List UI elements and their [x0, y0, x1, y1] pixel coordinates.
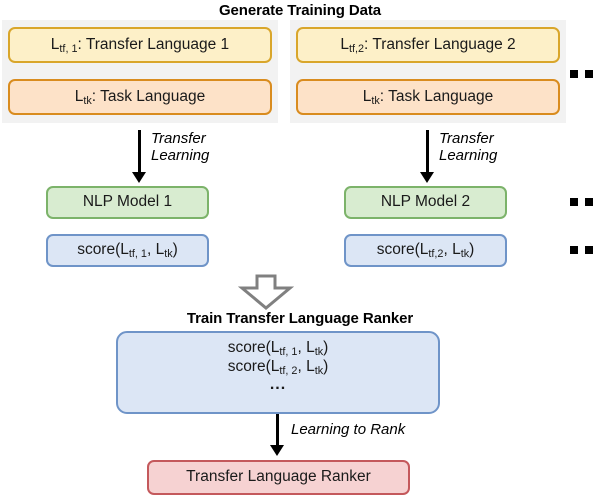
transfer-learning-label-2: Transfer Learning — [439, 131, 497, 165]
task-language-label-2: Ltk: Task Language — [363, 89, 494, 105]
task-language-label-1: Ltk: Task Language — [75, 89, 206, 105]
learning-to-rank-label: Learning to Rank — [291, 422, 405, 439]
transfer-language-box-1: Ltf, 1: Transfer Language 1 — [8, 27, 272, 63]
task-language-box-1: Ltk: Task Language — [8, 79, 272, 115]
score-box-2: score(Ltf,2, Ltk) — [344, 234, 507, 267]
diagram-canvas: Generate Training Data Ltf, 1: Transfer … — [0, 0, 600, 498]
ranker-score-line-1: score(Ltf, 1, Ltk) — [118, 339, 438, 358]
nlp-model-label-2: NLP Model 2 — [381, 194, 470, 210]
score-label-1: score(Ltf, 1, Ltk) — [77, 242, 178, 258]
transfer-learning-label-1: Transfer Learning — [151, 131, 209, 165]
transfer-language-ranker-box: Transfer Language Ranker — [147, 460, 410, 495]
ranker-score-line-2: score(Ltf, 2, Ltk) — [118, 358, 438, 377]
ellipsis-models-icon — [570, 198, 600, 206]
transfer-language-ranker-label: Transfer Language Ranker — [186, 469, 371, 485]
pipeline-block-arrow-icon — [238, 274, 294, 310]
ellipsis-groups-icon — [570, 70, 600, 78]
transfer-language-label-1: Ltf, 1: Transfer Language 1 — [51, 37, 229, 53]
ellipsis-scores-icon — [570, 246, 600, 254]
learning-to-rank-arrow-shaft — [276, 414, 279, 447]
transfer-language-box-2: Ltf,2: Transfer Language 2 — [296, 27, 560, 63]
transfer-learning-arrow-head-2 — [420, 172, 434, 183]
score-box-1: score(Ltf, 1, Ltk) — [46, 234, 209, 267]
nlp-model-box-2: NLP Model 2 — [344, 186, 507, 219]
transfer-learning-arrow-shaft-2 — [426, 130, 429, 174]
score-label-2: score(Ltf,2, Ltk) — [377, 242, 475, 258]
generate-training-data-title: Generate Training Data — [0, 2, 600, 19]
transfer-learning-arrow-shaft-1 — [138, 130, 141, 174]
ranker-score-ellipsis: ... — [118, 377, 438, 393]
task-language-box-2: Ltk: Task Language — [296, 79, 560, 115]
transfer-language-label-2: Ltf,2: Transfer Language 2 — [340, 37, 515, 53]
train-transfer-language-ranker-title: Train Transfer Language Ranker — [0, 310, 600, 327]
ranker-training-data-box: score(Ltf, 1, Ltk) score(Ltf, 2, Ltk) ..… — [116, 331, 440, 414]
nlp-model-label-1: NLP Model 1 — [83, 194, 172, 210]
learning-to-rank-arrow-head — [270, 445, 284, 456]
transfer-learning-arrow-head-1 — [132, 172, 146, 183]
nlp-model-box-1: NLP Model 1 — [46, 186, 209, 219]
